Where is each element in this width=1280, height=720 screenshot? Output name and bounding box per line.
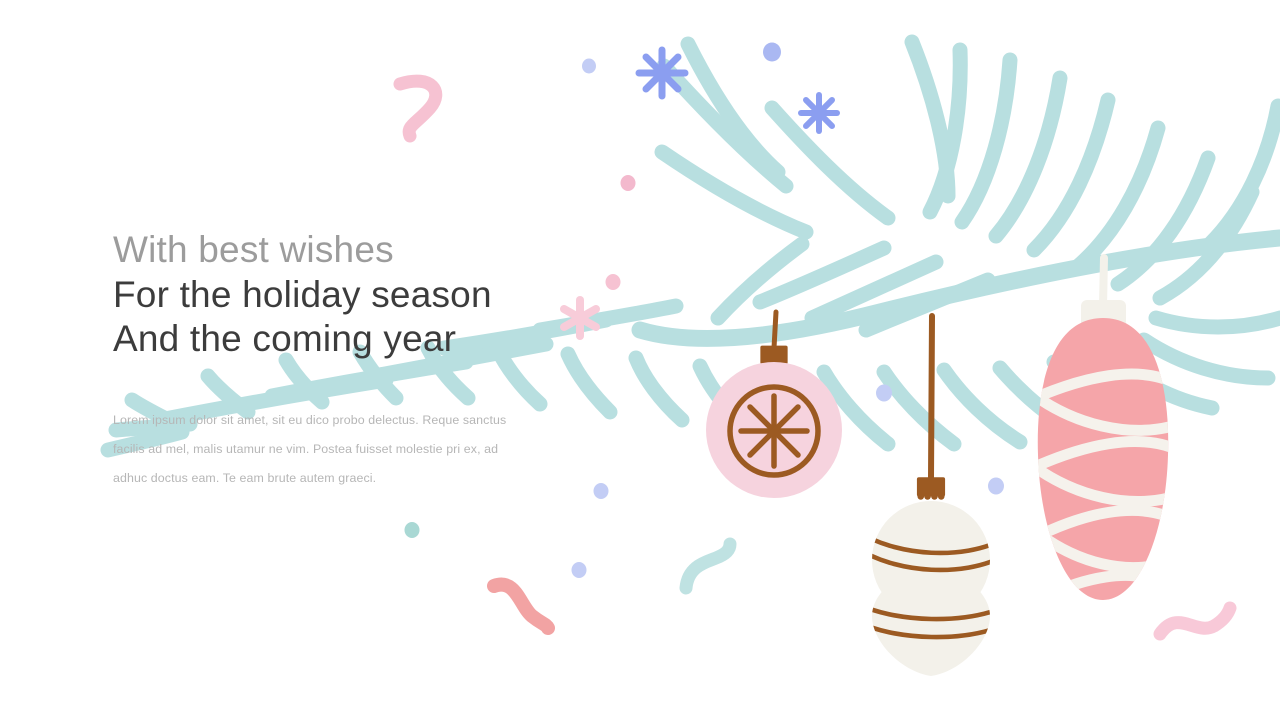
star-motif-icon xyxy=(730,387,818,475)
ornament-stripes xyxy=(1028,374,1182,617)
snowflake-blue-small-icon xyxy=(801,95,837,131)
dot-blue-icon xyxy=(572,562,587,578)
dot-blue-icon xyxy=(988,478,1004,495)
squiggle-pink-zigzag-icon xyxy=(400,81,436,136)
dot-blue-icon xyxy=(763,43,781,62)
dot-blue-icon xyxy=(876,385,892,402)
ornament-pink-pinecone xyxy=(1028,258,1182,618)
ornament-body-bottom xyxy=(872,571,990,676)
dot-blue-icon xyxy=(594,483,609,499)
ornament-bands-top xyxy=(862,534,1002,570)
dot-teal-icon xyxy=(736,135,749,149)
dot-blue-icon xyxy=(582,59,596,74)
ornament-cream-finial xyxy=(862,316,1002,676)
dot-teal-icon xyxy=(405,522,420,538)
text-block: With best wishes For the holiday season … xyxy=(113,228,543,362)
squiggle-pink-wave-icon xyxy=(1160,608,1230,634)
dot-pink-icon xyxy=(606,274,621,290)
ornament-body xyxy=(706,362,842,498)
ornament-string xyxy=(774,312,776,348)
ornament-body-top xyxy=(872,501,990,619)
body-paragraph: Lorem ipsum dolor sit amet, sit eu dico … xyxy=(113,406,525,493)
ornament-string xyxy=(1103,258,1104,306)
greeting-card-slide: With best wishes For the holiday season … xyxy=(0,0,1280,720)
ornament-bands-bottom xyxy=(862,606,1002,637)
asterisk-pink-icon xyxy=(564,300,596,336)
ornament-body xyxy=(1038,318,1168,600)
snowflake-blue-large-icon xyxy=(639,50,685,96)
ornament-cap xyxy=(1081,300,1126,334)
headline-line-3: And the coming year xyxy=(113,317,543,362)
dot-pink-icon xyxy=(621,175,636,191)
ornament-pink-ball xyxy=(706,312,842,498)
squiggle-teal-s-icon xyxy=(686,544,730,588)
squiggle-salmon-s-icon xyxy=(494,585,548,628)
page-title: With best wishes For the holiday season … xyxy=(113,228,543,362)
headline-line-1: With best wishes xyxy=(113,228,543,273)
headline-line-2: For the holiday season xyxy=(113,273,543,318)
ornament-cap xyxy=(917,477,945,500)
ornament-string xyxy=(931,316,932,478)
ornament-cap xyxy=(760,346,787,368)
